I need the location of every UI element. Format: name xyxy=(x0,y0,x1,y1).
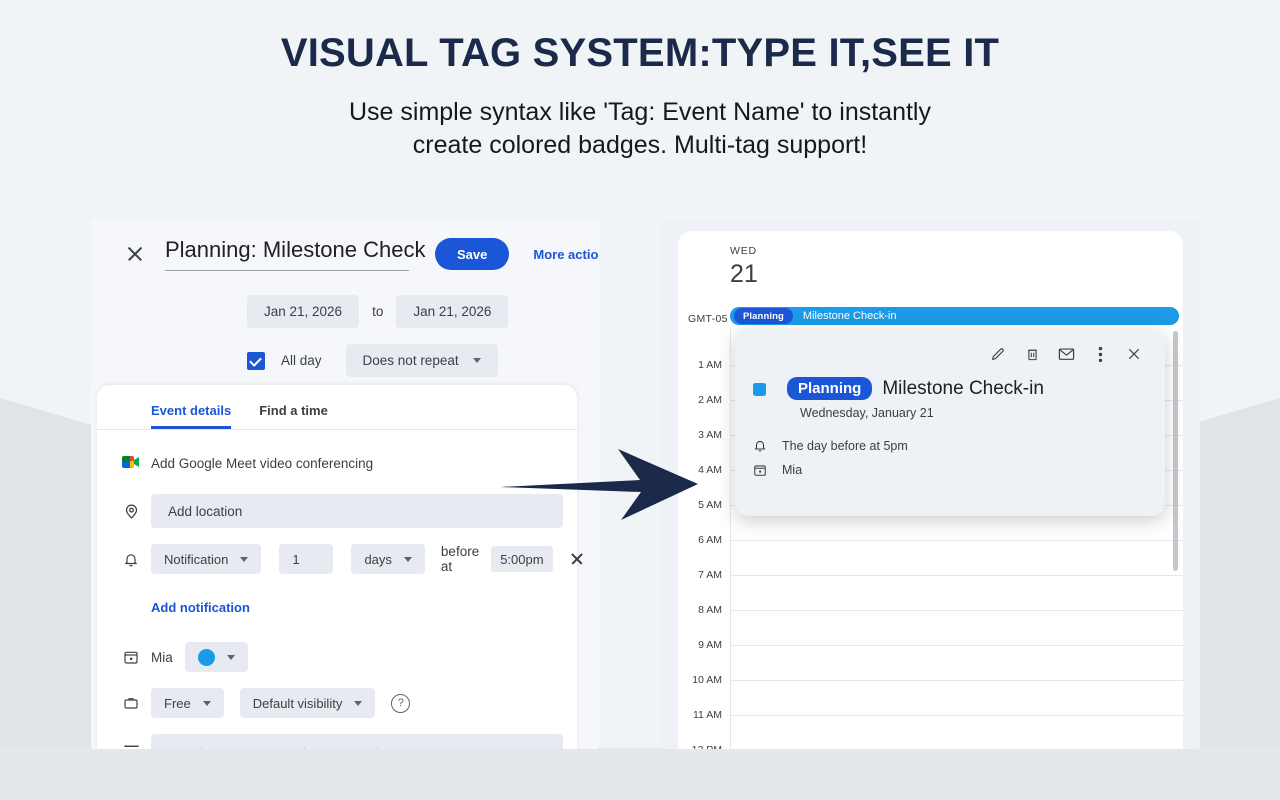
popup-notification-text: The day before at 5pm xyxy=(782,439,908,453)
chevron-down-icon xyxy=(227,655,235,660)
calendar-day-view: WED 21 GMT-05 Planning Milestone Check-i… xyxy=(678,231,1183,749)
bulleted-list-icon[interactable] xyxy=(341,743,371,749)
time-label: 12 PM xyxy=(692,744,722,749)
time-label: 10 AM xyxy=(692,674,722,686)
add-notification-row[interactable]: Add notification xyxy=(97,588,577,626)
time-axis: 1 AM 2 AM 3 AM 4 AM 5 AM 6 AM 7 AM 8 AM … xyxy=(678,329,730,749)
event-tag-badge: Planning xyxy=(734,308,793,324)
date-to-label: to xyxy=(372,304,383,319)
notification-amount-input[interactable]: 1 xyxy=(279,544,333,574)
calendar-header: WED 21 xyxy=(678,231,1183,287)
time-label: 6 AM xyxy=(698,534,722,546)
popup-notification-row: The day before at 5pm xyxy=(753,438,1165,453)
bell-icon xyxy=(753,438,782,453)
edit-pencil-icon[interactable] xyxy=(981,341,1015,367)
bold-icon[interactable]: B xyxy=(208,743,238,749)
color-swatch-icon xyxy=(198,649,215,666)
calendar-icon xyxy=(111,649,151,665)
all-day-label: All day xyxy=(281,353,322,368)
availability-row: Free Default visibility ? xyxy=(97,684,577,722)
chevron-down-icon xyxy=(203,701,211,706)
chevron-down-icon xyxy=(404,557,412,562)
time-label: 9 AM xyxy=(698,639,722,651)
location-pin-icon xyxy=(111,503,151,520)
availability-dropdown[interactable]: Free xyxy=(151,688,224,718)
day-of-week-label: WED xyxy=(730,245,1183,257)
italic-icon[interactable]: I xyxy=(238,743,268,749)
save-button[interactable]: Save xyxy=(435,238,509,270)
calendar-owner-label: Mia xyxy=(151,650,173,665)
event-title-input[interactable]: Planning: Milestone Check xyxy=(165,237,409,271)
repeat-dropdown[interactable]: Does not repeat xyxy=(346,344,498,377)
popup-tag-badge: Planning xyxy=(787,377,872,400)
event-color-indicator xyxy=(753,383,766,396)
start-date-field[interactable]: Jan 21, 2026 xyxy=(247,295,359,328)
popup-event-title: Milestone Check-in xyxy=(882,378,1044,400)
notification-before-label: before at xyxy=(441,544,479,574)
availability-label: Free xyxy=(164,696,191,711)
repeat-label: Does not repeat xyxy=(363,353,459,368)
all-day-event-chip[interactable]: Planning Milestone Check-in xyxy=(730,307,1179,325)
all-day-row: All day Does not repeat xyxy=(91,328,599,377)
bell-icon xyxy=(111,551,151,568)
close-icon[interactable] xyxy=(1117,341,1151,367)
visibility-label: Default visibility xyxy=(253,696,343,711)
chevron-down-icon xyxy=(473,358,481,363)
more-actions-label: More actions xyxy=(533,247,599,262)
calendar-scrollbar[interactable] xyxy=(1173,331,1178,571)
numbered-list-icon[interactable] xyxy=(311,743,341,749)
subtitle-line-2: create colored badges. Multi-tag support… xyxy=(413,131,867,159)
popup-calendar-row: Mia xyxy=(753,463,1165,477)
google-meet-label: Add Google Meet video conferencing xyxy=(151,456,373,471)
time-label: 8 AM xyxy=(698,604,722,616)
notification-time-input[interactable]: 5:00pm xyxy=(491,546,552,572)
time-label: 2 AM xyxy=(698,394,722,406)
editor-title-row: Planning: Milestone Check Save More acti… xyxy=(91,219,599,271)
time-label: 3 AM xyxy=(698,429,722,441)
description-lines-icon xyxy=(111,744,151,749)
background-floor xyxy=(0,748,1280,800)
calendar-icon xyxy=(753,463,782,477)
subtitle-line-1: Use simple syntax like 'Tag: Event Name'… xyxy=(349,98,931,126)
help-circle-icon[interactable]: ? xyxy=(391,694,410,713)
background-shape-left xyxy=(0,398,95,800)
delete-trash-icon[interactable] xyxy=(1015,341,1049,367)
tab-find-a-time[interactable]: Find a time xyxy=(259,403,328,429)
more-actions-button[interactable]: More actions xyxy=(533,247,599,262)
google-meet-icon xyxy=(111,455,151,471)
underline-icon[interactable]: U xyxy=(268,743,298,749)
toolbar-separator xyxy=(377,748,378,750)
popup-title-row: Planning Milestone Check-in xyxy=(753,377,1165,400)
tab-event-details[interactable]: Event details xyxy=(151,403,231,429)
close-icon[interactable] xyxy=(122,241,148,267)
toolbar-separator xyxy=(304,748,305,750)
drive-icon[interactable] xyxy=(165,743,195,749)
description-toolbar: B I U xyxy=(151,742,563,749)
visibility-dropdown[interactable]: Default visibility xyxy=(240,688,376,718)
calendar-panel: WED 21 GMT-05 Planning Milestone Check-i… xyxy=(661,219,1200,749)
editor-header: Planning: Milestone Check Save More acti… xyxy=(91,219,599,377)
day-number-label[interactable]: 21 xyxy=(730,261,1183,287)
notification-unit-dropdown[interactable]: days xyxy=(351,544,424,574)
time-label: 7 AM xyxy=(698,569,722,581)
event-title-text: Milestone Check-in xyxy=(803,310,897,322)
chevron-down-icon xyxy=(354,701,362,706)
notification-unit-label: days xyxy=(364,552,391,567)
popup-body: Planning Milestone Check-in Wednesday, J… xyxy=(735,367,1165,420)
popup-event-date: Wednesday, January 21 xyxy=(800,406,1165,420)
notification-type-dropdown[interactable]: Notification xyxy=(151,544,261,574)
timezone-label: GMT-05 xyxy=(688,313,728,325)
description-row: B I U xyxy=(97,734,577,749)
notification-row: Notification 1 days before at 5:00pm xyxy=(97,540,577,578)
chevron-down-icon xyxy=(240,557,248,562)
description-editor[interactable]: B I U xyxy=(151,734,563,749)
link-icon[interactable] xyxy=(384,743,414,749)
flow-arrow-icon xyxy=(500,437,698,522)
time-label: 1 AM xyxy=(698,359,722,371)
editor-tabs: Event details Find a time xyxy=(97,385,577,430)
calendar-owner-row: Mia xyxy=(97,638,577,676)
notification-type-label: Notification xyxy=(164,552,228,567)
page-title: VISUAL TAG SYSTEM:TYPE IT,SEE IT xyxy=(0,32,1280,74)
add-notification-button[interactable]: Add notification xyxy=(151,600,250,615)
end-date-field[interactable]: Jan 21, 2026 xyxy=(396,295,508,328)
time-label: 11 AM xyxy=(693,709,722,721)
popup-actions xyxy=(735,329,1165,367)
email-envelope-icon[interactable] xyxy=(1049,341,1083,367)
event-color-dropdown[interactable] xyxy=(185,642,248,672)
more-options-icon[interactable] xyxy=(1083,341,1117,367)
popup-calendar-owner: Mia xyxy=(782,463,802,477)
page-subtitle: Use simple syntax like 'Tag: Event Name'… xyxy=(260,96,1020,162)
hero-section: VISUAL TAG SYSTEM:TYPE IT,SEE IT Use sim… xyxy=(0,32,1280,162)
all-day-checkbox[interactable] xyxy=(247,352,265,370)
clear-formatting-icon[interactable] xyxy=(414,743,444,749)
time-label: 5 AM xyxy=(698,499,722,511)
event-detail-popup: Planning Milestone Check-in Wednesday, J… xyxy=(735,329,1165,516)
briefcase-icon xyxy=(111,695,151,711)
toolbar-separator xyxy=(201,748,202,750)
time-label: 4 AM xyxy=(698,464,722,476)
date-range-row: Jan 21, 2026 to Jan 21, 2026 xyxy=(91,271,599,328)
remove-notification-icon[interactable] xyxy=(567,549,577,569)
